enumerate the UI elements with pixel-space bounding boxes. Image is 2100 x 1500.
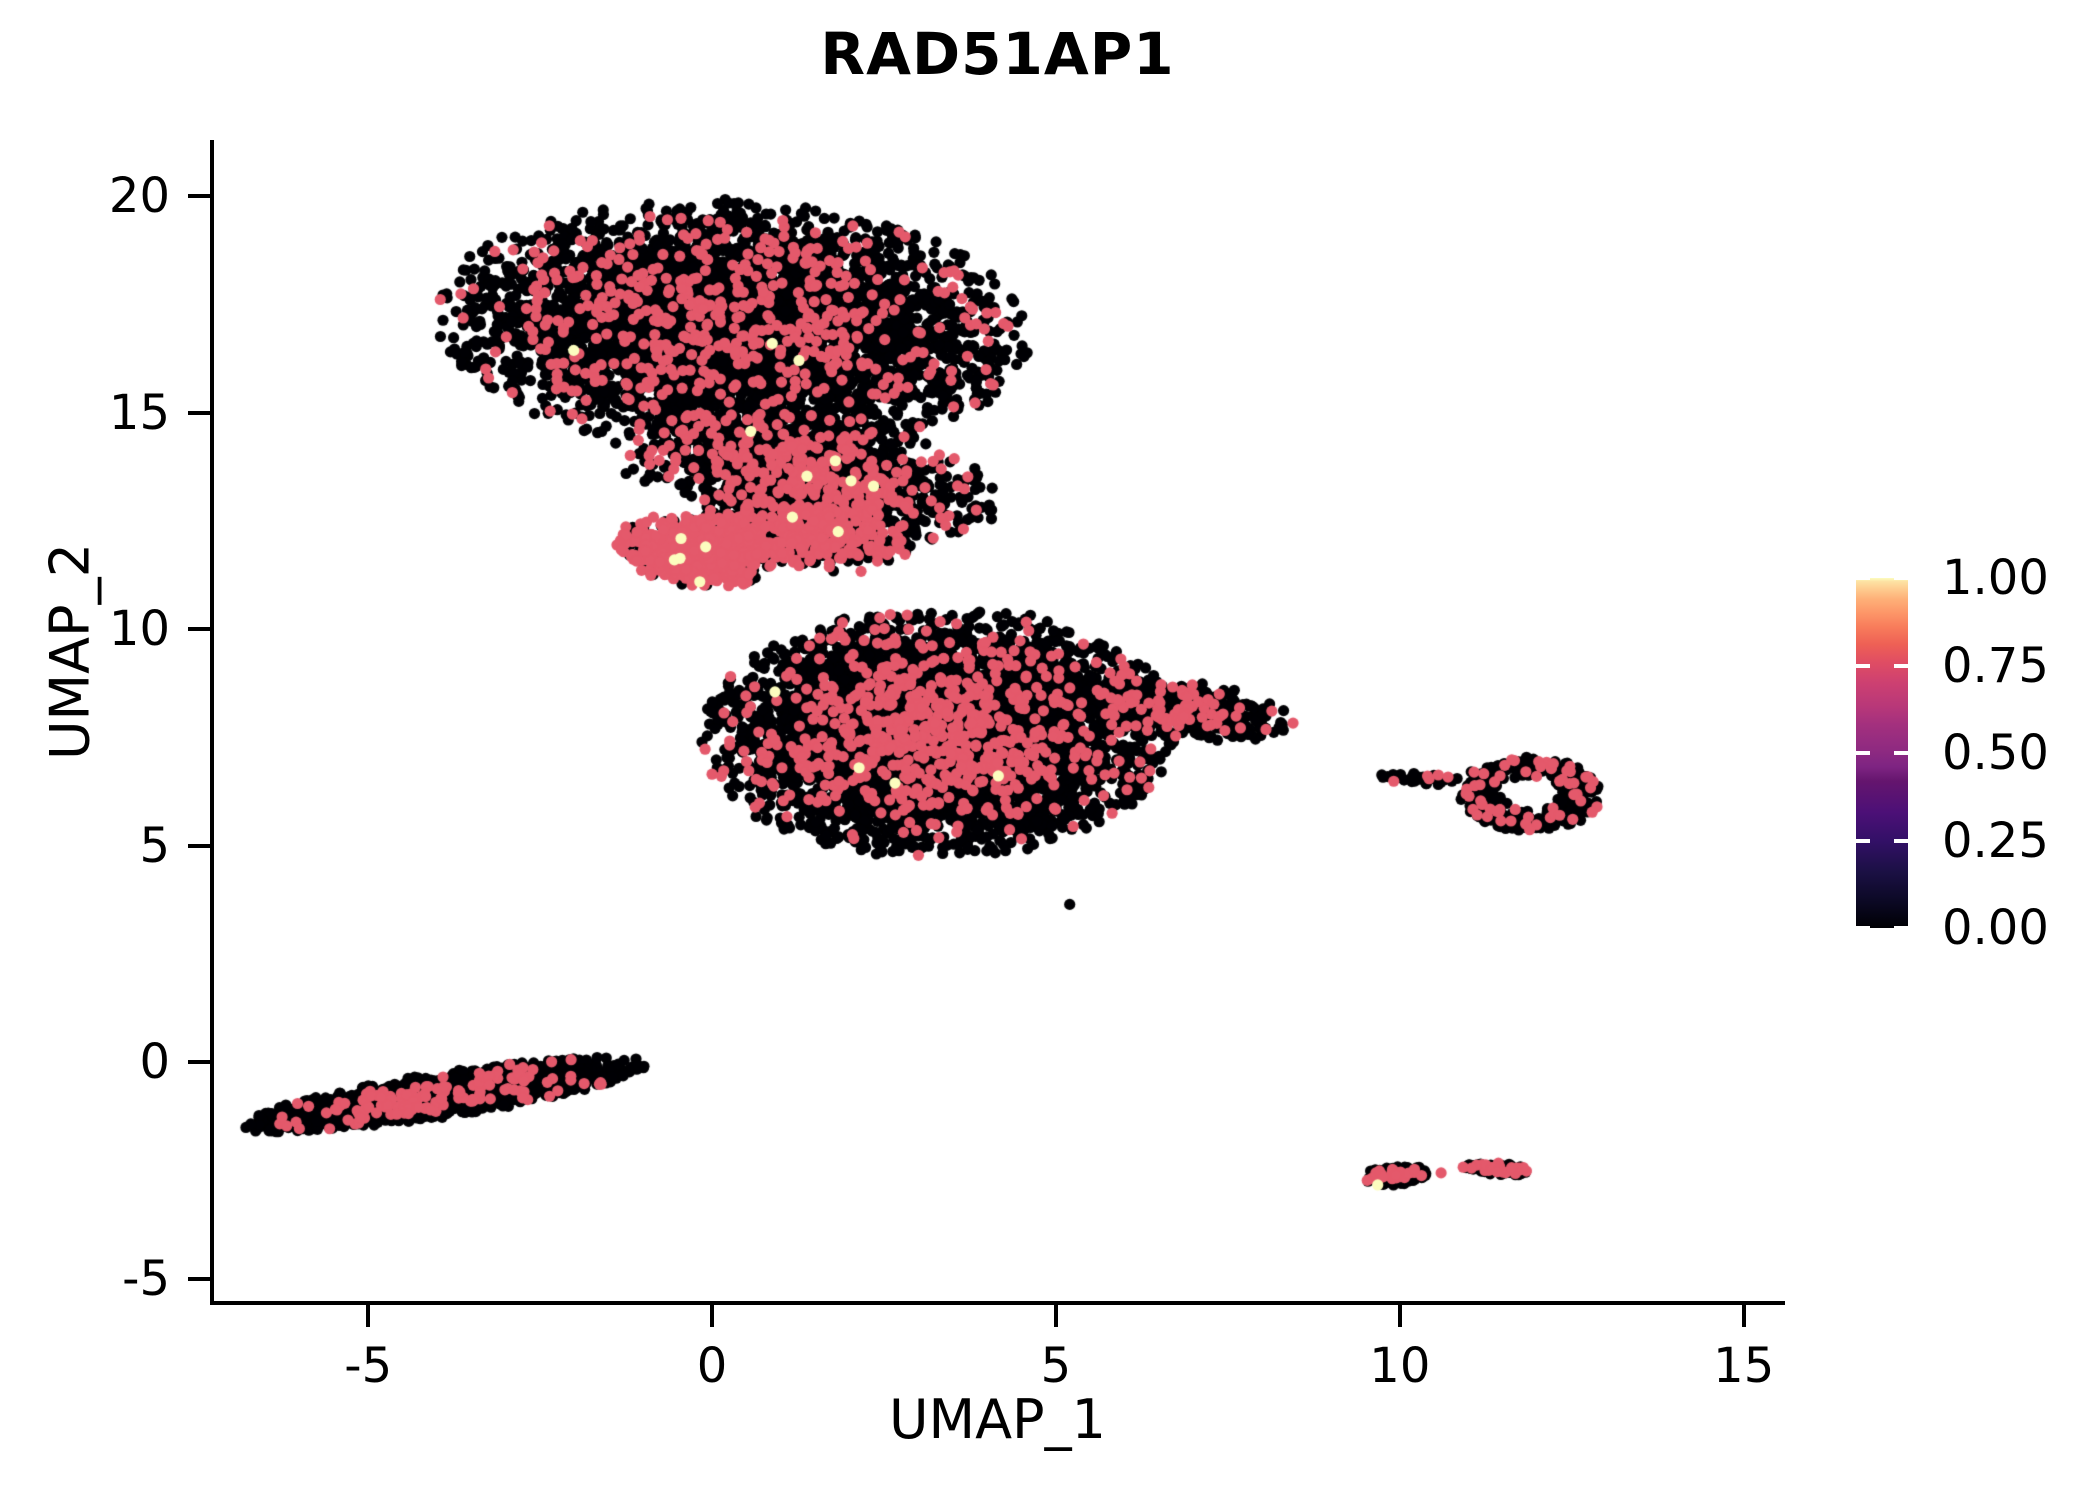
colorbar-tick-label: 0.25 [1942, 813, 2049, 869]
y-tick-label: 5 [139, 818, 170, 874]
y-tick-mark [188, 627, 210, 631]
colorbar-tick-mark [1856, 751, 1870, 755]
colorbar-tick-mark [1894, 576, 1908, 580]
x-tick-label: 0 [697, 1338, 728, 1394]
y-tick-label: 15 [109, 385, 170, 441]
y-tick-label: -5 [122, 1251, 170, 1307]
x-tick-mark [710, 1305, 714, 1327]
y-axis-label: UMAP_2 [39, 302, 102, 1002]
y-tick-mark [188, 411, 210, 415]
page-title: RAD51AP1 [210, 20, 1785, 88]
colorbar-tick-mark [1894, 839, 1908, 843]
colorbar-tick-mark [1856, 576, 1870, 580]
y-tick-mark [188, 1060, 210, 1064]
colorbar-tick-label: 0.50 [1942, 725, 2049, 781]
colorbar-tick-mark [1894, 664, 1908, 668]
plot-axes: -505101520 -5051015 [210, 140, 1785, 1305]
umap-figure: RAD51AP1 -505101520 -5051015 UMAP_1 UMAP… [0, 0, 2100, 1500]
colorbar-tick-mark [1894, 751, 1908, 755]
colorbar-tick-label: 0.75 [1942, 638, 2049, 694]
y-tick-label: 10 [109, 601, 170, 657]
colorbar-tick-label: 1.00 [1942, 550, 2049, 606]
x-axis-label: UMAP_1 [210, 1388, 1785, 1451]
x-tick-mark [366, 1305, 370, 1327]
y-tick-mark [188, 844, 210, 848]
colorbar-tick-mark [1856, 839, 1870, 843]
scatter-canvas [210, 140, 1785, 1305]
x-tick-label: 15 [1713, 1338, 1774, 1394]
colorbar-tick-mark [1856, 926, 1870, 930]
x-tick-label: 5 [1041, 1338, 1072, 1394]
x-tick-label: 10 [1369, 1338, 1430, 1394]
y-tick-label: 0 [139, 1034, 170, 1090]
y-tick-mark [188, 194, 210, 198]
y-tick-label: 20 [109, 168, 170, 224]
x-tick-mark [1742, 1305, 1746, 1327]
colorbar: 1.000.750.500.250.00 [1856, 578, 2096, 928]
x-tick-mark [1398, 1305, 1402, 1327]
x-tick-label: -5 [344, 1338, 392, 1394]
colorbar-tick-mark [1856, 664, 1870, 668]
y-tick-mark [188, 1277, 210, 1281]
colorbar-tick-label: 0.00 [1942, 900, 2049, 956]
colorbar-tick-mark [1894, 926, 1908, 930]
x-tick-mark [1054, 1305, 1058, 1327]
